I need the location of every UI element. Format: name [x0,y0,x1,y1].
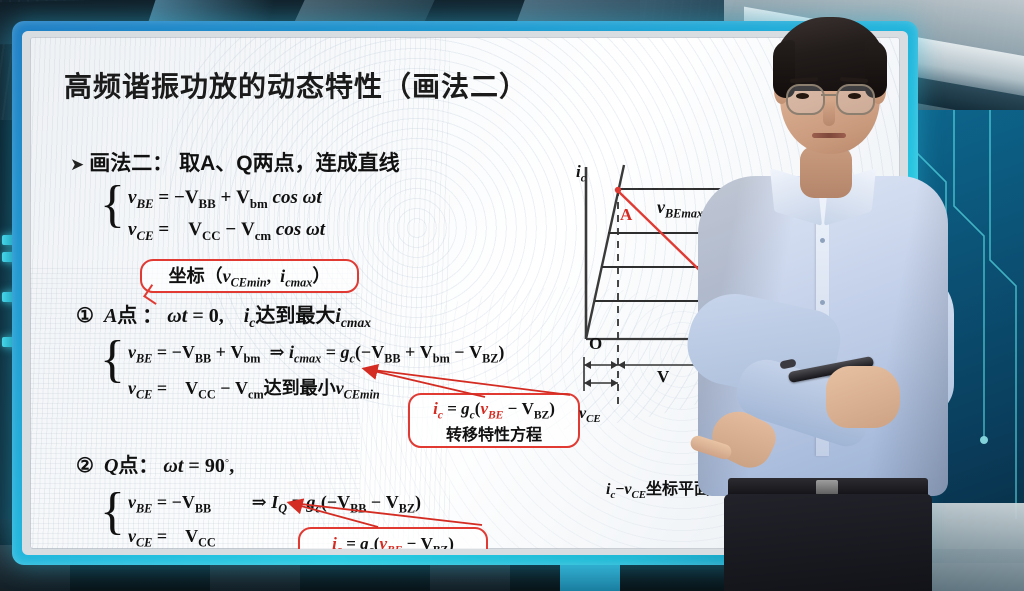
callout-transfer-label-a: 转移特性方程 [410,426,578,446]
brace-icon-1: { [100,179,125,231]
glasses-lens-right-icon [836,84,875,115]
presenter-belt-buckle [816,480,838,495]
shirt-button-2 [820,300,825,305]
equation-vce-a: vCE = VCC − Vcm达到最小vCEmin [128,374,380,403]
section-2-marker: ② [76,455,94,477]
callout-coordinates: 坐标（vCEmin, icmax） [140,259,359,293]
callout-transfer-formula-q: ic = gc(vBE − VBZ) [300,532,486,549]
brace-icon-2: { [100,334,125,386]
bullet-arrow-icon: ➤ [70,155,84,174]
graph-y-axis-label: ic [576,162,586,184]
graph-origin-label: O [589,334,602,354]
equation-vbe-q: vBE = −VBB ⇒ IQ = gc(−VBB − VBZ) [128,492,421,517]
presenter [640,0,1024,591]
screenshot-root: 高频谐振功放的动态特性（画法二） ➤画法二： 取A、Q两点，连成直线 { vBE… [0,0,1024,591]
glasses-bridge-icon [821,94,836,96]
presenter-eye-right [848,93,861,99]
presenter-holding-hand [826,366,900,428]
brace-icon-3: { [100,486,125,538]
presenter-mouth [812,133,846,138]
section-1-marker: ① [76,305,94,327]
section-heading-a-point: ① A点 ： ωt = 0, ic达到最大icmax [76,299,371,331]
equation-vce-1: vCE = VCC − Vcm cos ωt [128,219,325,244]
equation-vce-q: vCE = VCC [128,526,216,549]
section-heading-q-point: ② Q点： ωt = 90◦, [76,449,234,478]
shirt-button-1 [820,238,825,243]
bullet-item-method-two: ➤画法二： 取A、Q两点，连成直线 [70,147,400,177]
callout-transfer-eq-q: ic = gc(vBE − VBZ) 转移特性方程 [298,527,488,549]
presenter-trousers [724,494,932,591]
callout-transfer-formula-a: ic = gc(vBE − VBZ) [410,398,578,426]
graph-vce-dim-label: vCE [579,405,601,425]
bullet-label: 画法二： 取A、Q两点，连成直线 [89,152,399,175]
callout-coordinates-text: 坐标（vCEmin, icmax） [169,266,331,286]
presenter-nose [823,100,835,126]
slide-title: 高频谐振功放的动态特性（画法二） [64,65,528,105]
graph-point-a-label: A [620,205,632,225]
equation-vbe-a: vBE = −VBB + Vbm ⇒ icmax = gc(−VBB + Vbm… [128,342,504,367]
presenter-eye-left [796,93,809,99]
glasses-lens-left-icon [786,84,825,115]
equation-vbe-1: vBE = −VBB + Vbm cos ωt [128,187,322,212]
callout-transfer-eq-a: ic = gc(vBE − VBZ) 转移特性方程 [408,393,580,448]
